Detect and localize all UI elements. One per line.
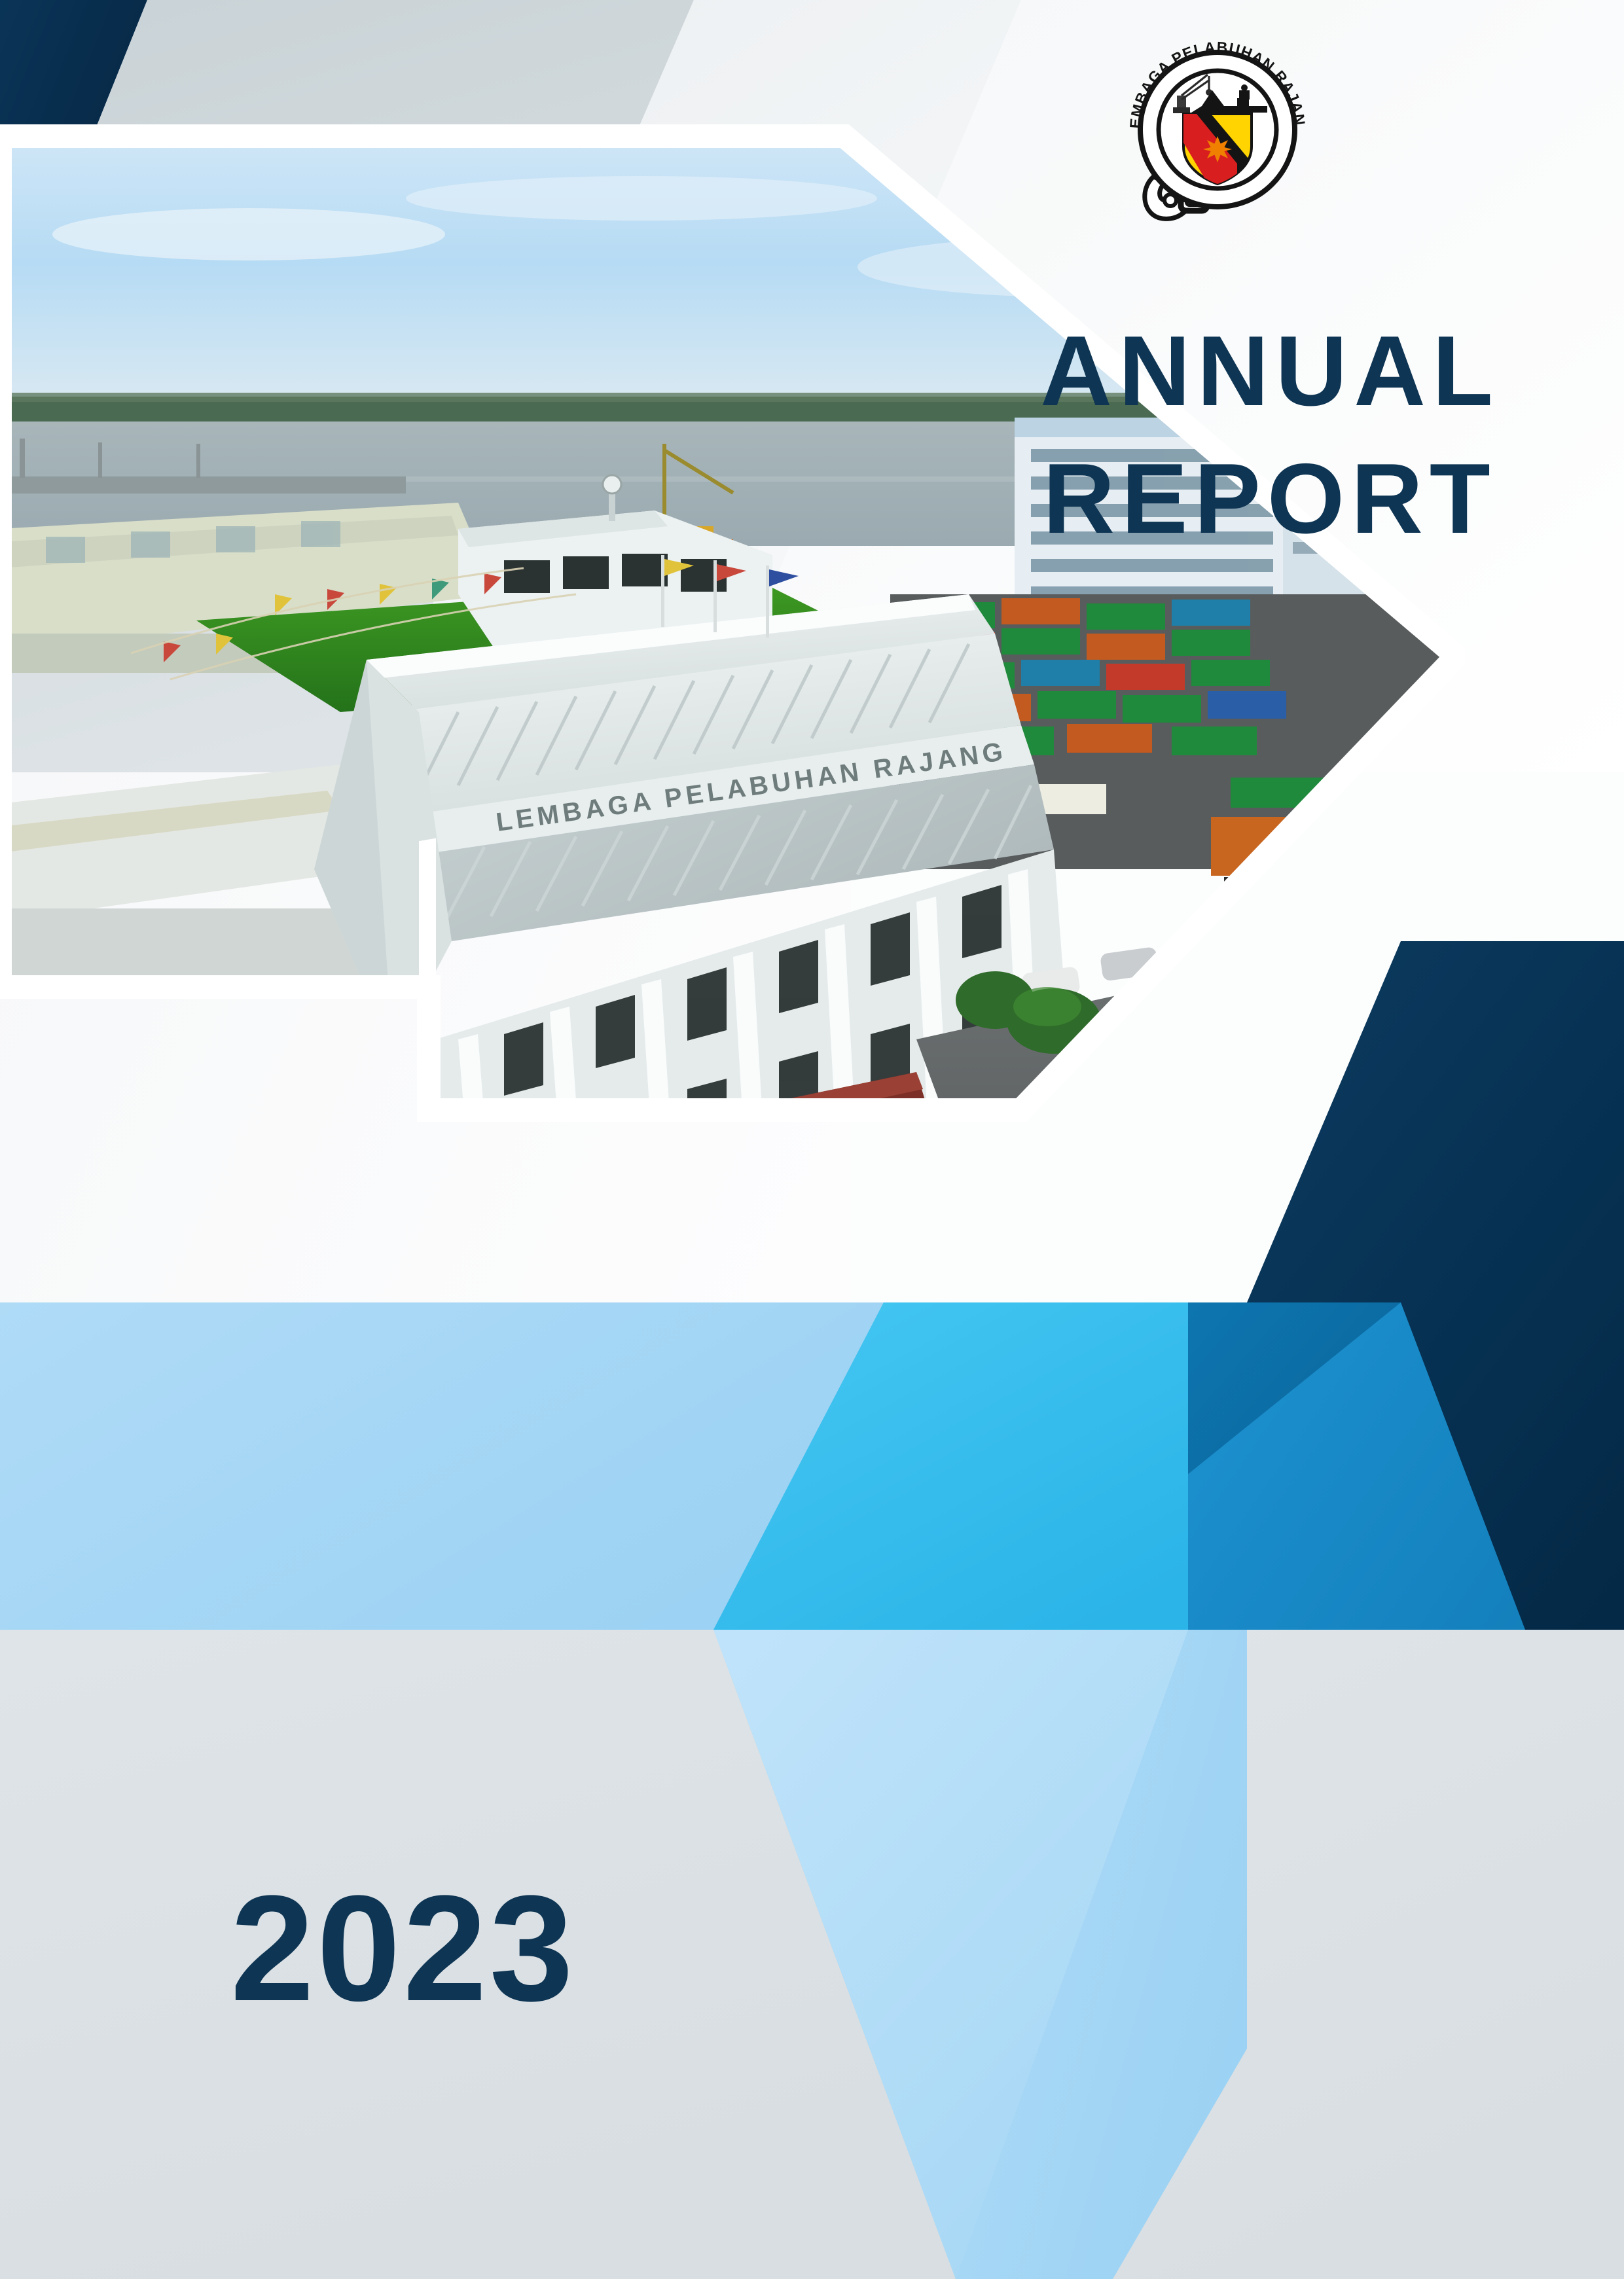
- organisation-logo: LEMBAGA PELABUHAN RAJANG: [1113, 25, 1322, 234]
- cover-title-block: ANNUAL REPORT: [956, 308, 1584, 562]
- title-report: REPORT: [956, 435, 1584, 563]
- cover-year: 2023: [230, 1873, 576, 2024]
- annual-report-cover: LEMBAGA PELABUHAN RAJANG: [0, 0, 1624, 2279]
- title-annual: ANNUAL: [956, 308, 1584, 435]
- photo-wharf: [0, 476, 406, 493]
